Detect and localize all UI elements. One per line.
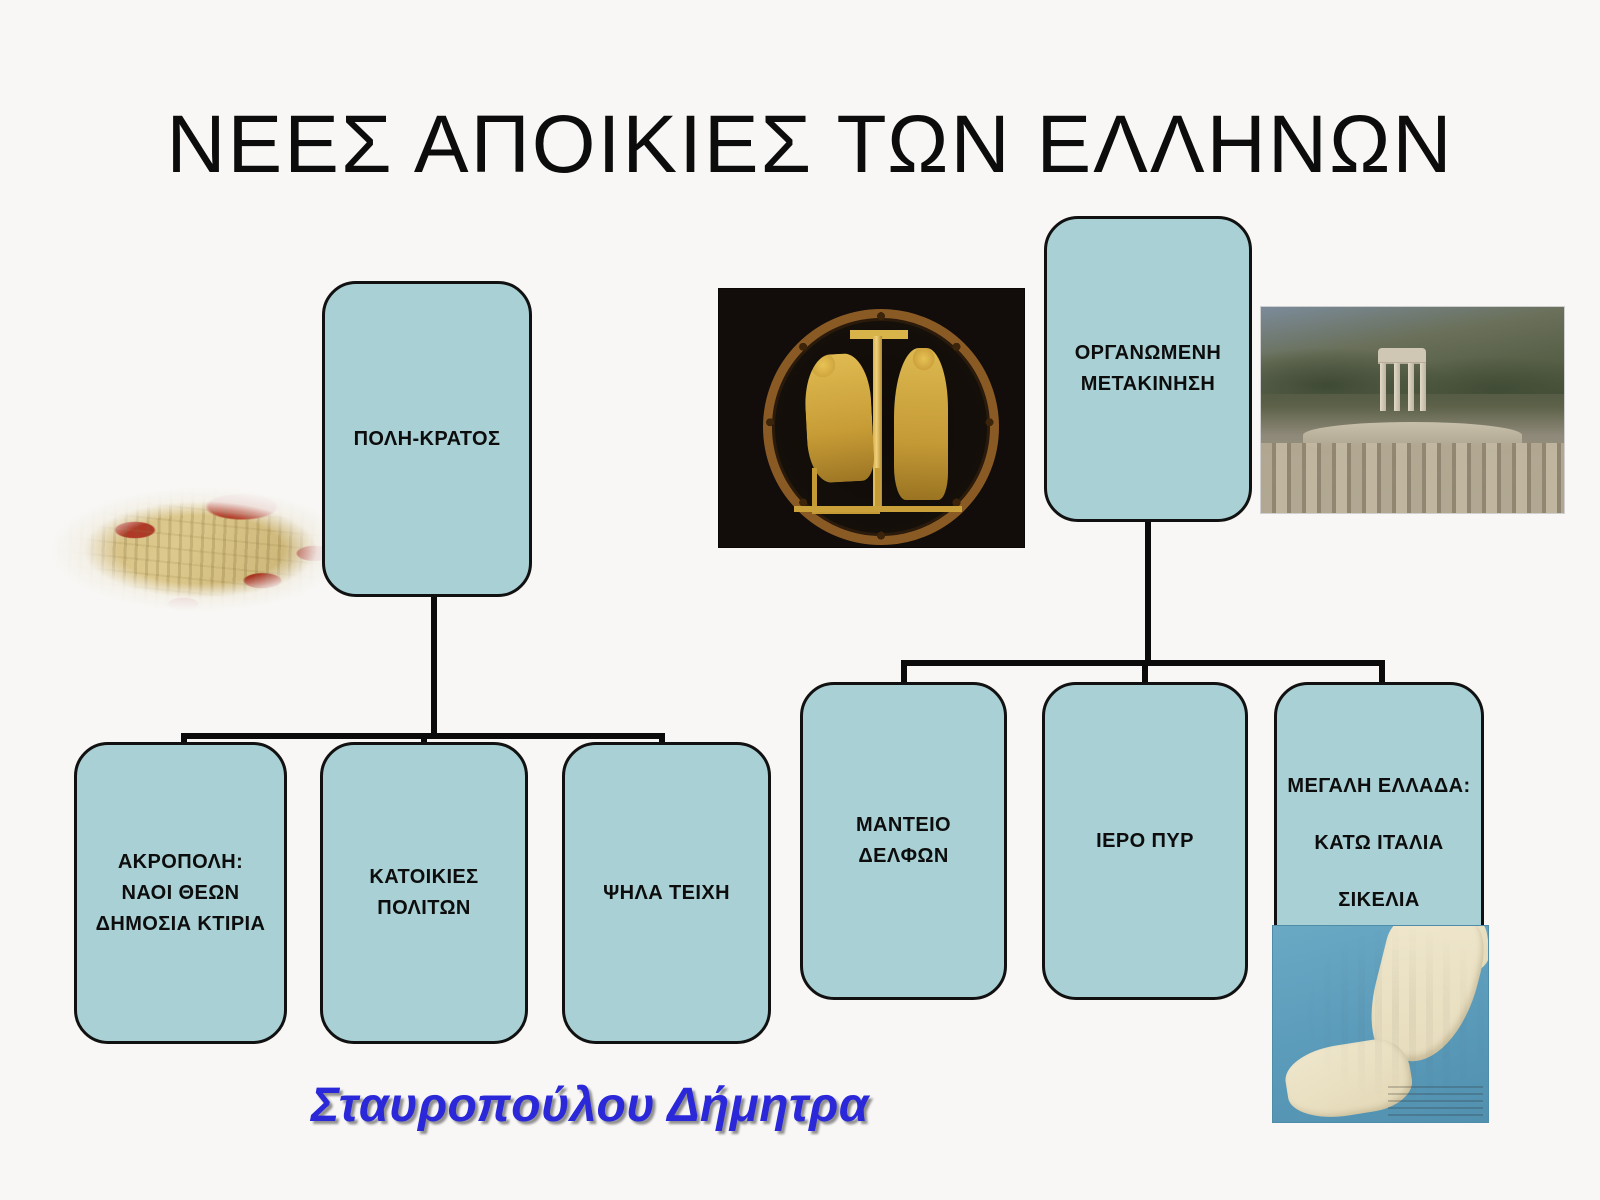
tholos-column (1420, 363, 1426, 411)
connector-right-root-stem (1145, 522, 1151, 664)
map-legend (1388, 1086, 1483, 1117)
connector-left-root-stem (431, 595, 437, 738)
node-polis-kratos[interactable]: ΠΟΛΗ-ΚΡΑΤΟΣ (322, 281, 532, 597)
pythia-kylix-image (718, 288, 1025, 548)
tholos-column (1380, 363, 1386, 411)
node-high-walls[interactable]: ΨΗΛΑ ΤΕΙΧΗ (562, 742, 771, 1044)
kylix-seated-figure (802, 352, 875, 483)
magna-graecia-map-image (1272, 925, 1489, 1123)
tholos-roof (1378, 348, 1426, 362)
delphi-tholos-photo (1260, 306, 1565, 514)
node-delphi-oracle-label: ΜΑΝΤΕΙΟ ΔΕΛΦΩΝ (803, 810, 1004, 872)
node-citizen-houses[interactable]: ΚΑΤΟΙΚΙΕΣ ΠΟΛΙΤΩΝ (320, 742, 528, 1044)
node-acropolis-label: ΑΚΡΟΠΟΛΗ: ΝΑΟΙ ΘΕΩΝ ΔΗΜΟΣΙΑ ΚΤΙΡΙΑ (77, 847, 284, 940)
node-delphi-oracle[interactable]: ΜΑΝΤΕΙΟ ΔΕΛΦΩΝ (800, 682, 1007, 1000)
node-sacred-fire-label: ΙΕΡΟ ΠΥΡ (1045, 826, 1245, 857)
delphi-tholos-structure (1370, 348, 1434, 422)
kylix-tondo (763, 309, 999, 545)
node-high-walls-label: ΨΗΛΑ ΤΕΙΧΗ (565, 878, 768, 909)
node-polis-kratos-label: ΠΟΛΗ-ΚΡΑΤΟΣ (325, 424, 529, 455)
node-magna-graecia-label: ΜΕΓΑΛΗ ΕΛΛΑΔΑ: ΚΑΤΩ ΙΤΑΛΙΑ ΣΙΚΕΛΙΑ (1277, 771, 1481, 916)
node-organized-migration[interactable]: ΟΡΓΑΝΩΜΕΝΗ ΜΕΤΑΚΙΝΗΣΗ (1044, 216, 1252, 522)
author-signature: Σταυροπούλου Δήμητρα (280, 1078, 900, 1133)
tholos-column (1394, 363, 1400, 411)
node-sacred-fire[interactable]: ΙΕΡΟ ΠΥΡ (1042, 682, 1248, 1000)
slide-canvas: ΝΕΕΣ ΑΠΟΙΚΙΕΣ ΤΩΝ ΕΛΛΗΝΩΝ (0, 0, 1600, 1200)
kylix-standing-figure (894, 348, 948, 500)
node-acropolis[interactable]: ΑΚΡΟΠΟΛΗ: ΝΑΟΙ ΘΕΩΝ ΔΗΜΟΣΙΑ ΚΤΙΡΙΑ (74, 742, 287, 1044)
delphi-ruins-foreground (1261, 443, 1564, 513)
node-citizen-houses-label: ΚΑΤΟΙΚΙΕΣ ΠΟΛΙΤΩΝ (323, 862, 525, 924)
page-title: ΝΕΕΣ ΑΠΟΙΚΙΕΣ ΤΩΝ ΕΛΛΗΝΩΝ (110, 95, 1510, 195)
node-organized-migration-label: ΟΡΓΑΝΩΜΕΝΗ ΜΕΤΑΚΙΝΗΣΗ (1047, 338, 1249, 400)
kylix-ground-line (794, 506, 962, 512)
tholos-column (1408, 363, 1414, 411)
